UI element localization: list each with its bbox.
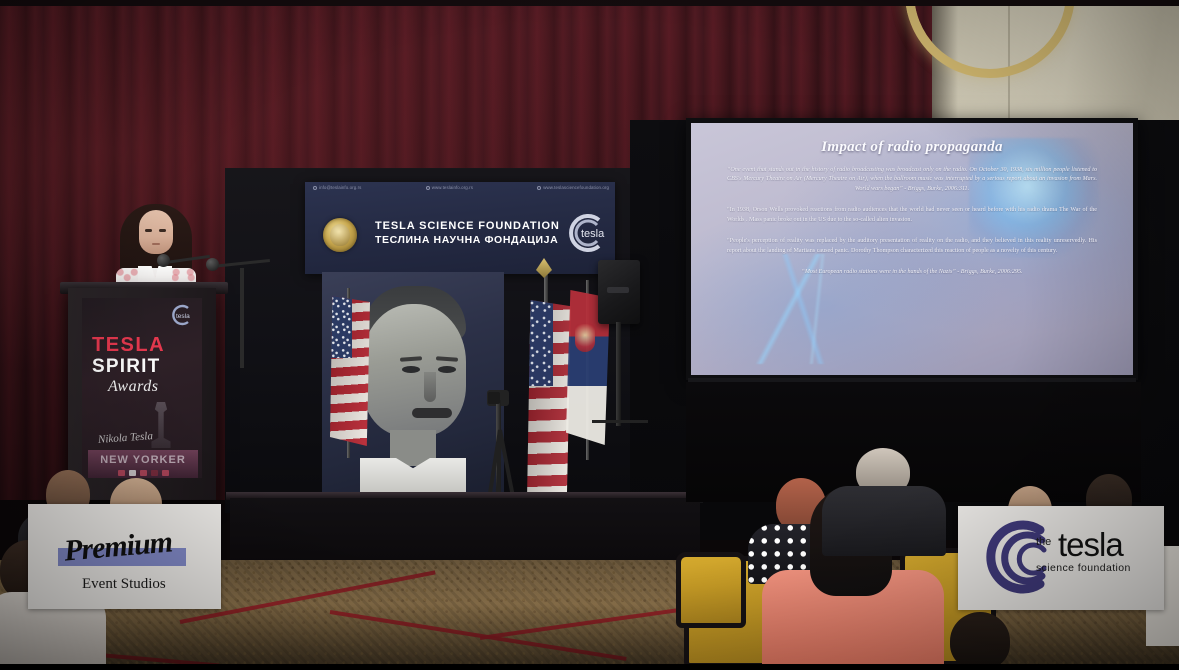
slide-paragraph-2: “In 1938, Orson Wells provoked reactions… <box>727 206 1097 225</box>
premium-subtitle: Event Studios <box>82 576 166 593</box>
projection-screen: Impact of radio propaganda “One event th… <box>686 118 1138 380</box>
banner-titles: TESLA SCIENCE FOUNDATION ТЕСЛИНА НАУЧНА … <box>375 220 560 246</box>
portrait-eye-left <box>402 366 420 373</box>
portrait-brow-left <box>400 356 422 362</box>
podium-screen-icons <box>118 470 169 476</box>
banner-contact-line: info@teslainfo.org.rs www.teslainfo.org.… <box>313 185 609 190</box>
tsf-subtitle: science foundation <box>1036 562 1131 574</box>
icon-badge-3 <box>140 470 147 476</box>
us-flag-left <box>330 296 370 446</box>
globe-icon <box>426 186 430 190</box>
tsf-the-text: the <box>1036 536 1051 548</box>
podium-tesla-text: TESLA <box>92 334 165 357</box>
stage-riser-right <box>686 382 1141 502</box>
banner-contact-web2: www.teslasciencefoundation.org <box>537 185 609 190</box>
portrait-moustache <box>412 408 452 418</box>
podium-screen: NEW YORKER <box>88 450 198 478</box>
bose-speaker <box>598 260 640 324</box>
podium-sign: tesla TESLA SPIRIT Awards Nikola Tesla N… <box>82 298 202 478</box>
slide-paragraph-1: “One event that stands out in the histor… <box>727 166 1097 194</box>
presenter-mouth <box>152 243 160 245</box>
portrait-brow-right <box>436 356 458 362</box>
slide-paragraph-4: “Most European radio stations were in th… <box>727 268 1097 277</box>
portrait-nose <box>424 372 436 402</box>
banner-contact-email: info@teslainfo.org.rs <box>313 185 361 190</box>
presenter-eye-left <box>145 229 152 232</box>
new-yorker-text: NEW YORKER <box>100 455 186 466</box>
podium-awards-text: Awards <box>108 378 158 396</box>
icon-badge-2 <box>129 470 136 476</box>
letterbox-bottom <box>0 664 1179 670</box>
tesla-signature: Nikola Tesla <box>98 430 154 446</box>
podium-spirit-text: SPIRIT <box>92 356 160 378</box>
svg-text:tesla: tesla <box>581 228 605 240</box>
icon-badge-1 <box>118 470 125 476</box>
presenter <box>112 196 200 296</box>
mail-icon <box>313 186 317 190</box>
presenter-eye-right <box>159 229 166 232</box>
camera-body <box>488 392 500 404</box>
banner-title-en: TESLA SCIENCE FOUNDATION <box>375 220 560 232</box>
microphone-stand-pole <box>240 268 244 368</box>
premium-event-studios-logo: Premium Event Studios <box>28 504 221 609</box>
us-flag-center <box>527 300 571 510</box>
slide-paragraph-3: “People's perception of reality was repl… <box>727 237 1097 256</box>
slide-surface: Impact of radio propaganda “One event th… <box>691 123 1133 375</box>
slide-body: “One event that stands out in the histor… <box>691 156 1133 278</box>
speaker-stand-legs <box>592 420 648 423</box>
tesla-swirl-logo: tesla <box>561 212 607 254</box>
banner-contact-web1: www.teslainfo.org.rs <box>426 185 473 190</box>
tesla-medallion-seal <box>323 218 357 252</box>
tesla-swirl-mark <box>970 514 1056 600</box>
slide-title: Impact of radio propaganda <box>691 139 1133 156</box>
portrait-eye-right <box>438 366 456 373</box>
tesla-science-foundation-logo: the tesla science foundation <box>958 506 1164 610</box>
icon-badge-5 <box>162 470 169 476</box>
tesla-science-foundation-banner: info@teslainfo.org.rs www.teslainfo.org.… <box>305 182 615 274</box>
tsf-tesla-text: tesla <box>1058 526 1123 564</box>
globe-icon-2 <box>537 186 541 190</box>
audience-chair-3 <box>676 552 746 628</box>
audience-head-9 <box>950 612 1010 670</box>
microphone-head-2 <box>206 258 219 271</box>
audience-shoulders-6 <box>822 486 946 556</box>
podium: tesla TESLA SPIRIT Awards Nikola Tesla N… <box>68 288 216 500</box>
icon-badge-4 <box>151 470 158 476</box>
presenter-face <box>139 210 173 254</box>
tesla-swirl-logo-podium: tesla <box>164 304 194 326</box>
video-frame: info@teslainfo.org.rs www.teslainfo.org.… <box>0 0 1179 670</box>
microphone-head-1 <box>157 254 170 267</box>
speaker-stand-pole <box>616 322 621 426</box>
svg-text:tesla: tesla <box>176 313 190 320</box>
ceiling-edge <box>0 0 1179 6</box>
portrait-head <box>362 304 466 436</box>
banner-title-sr: ТЕСЛИНА НАУЧНА ФОНДАЦИЈА <box>375 234 560 246</box>
